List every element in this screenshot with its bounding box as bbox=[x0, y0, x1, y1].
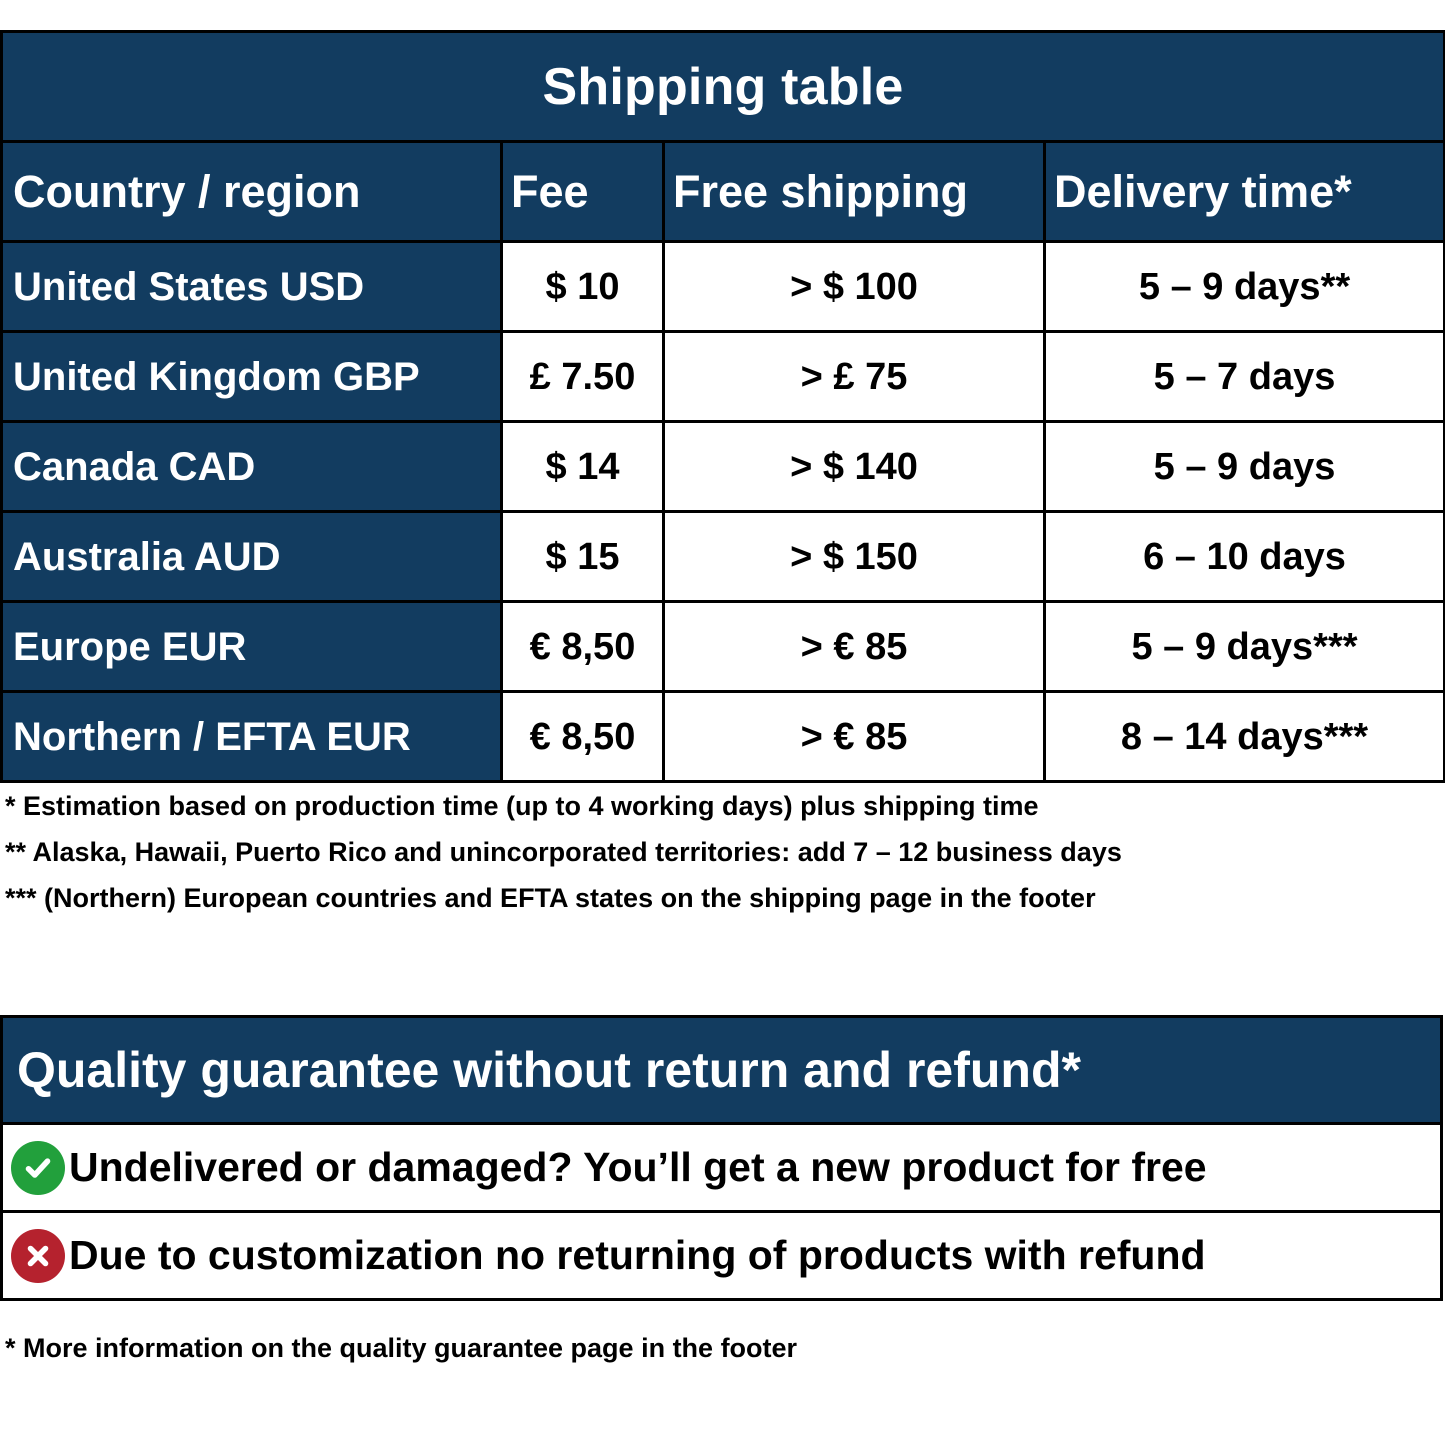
cell-country: Europe EUR bbox=[2, 602, 502, 692]
table-row: Australia AUD $ 15 > $ 150 6 – 10 days bbox=[2, 512, 1445, 602]
footnote-single-asterisk: * Estimation based on production time (u… bbox=[5, 793, 1440, 820]
footnote-double-asterisk: ** Alaska, Hawaii, Puerto Rico and uninc… bbox=[5, 839, 1440, 866]
cell-fee: $ 15 bbox=[502, 512, 664, 602]
table-row: Northern / EFTA EUR € 8,50 > € 85 8 – 14… bbox=[2, 692, 1445, 782]
shipping-table-header-row: Country / region Fee Free shipping Deliv… bbox=[2, 142, 1445, 242]
cell-delivery-time: 5 – 9 days bbox=[1045, 422, 1445, 512]
cell-delivery-time: 5 – 9 days*** bbox=[1045, 602, 1445, 692]
quality-guarantee-container: Quality guarantee without return and ref… bbox=[0, 1015, 1445, 1301]
cell-delivery-time: 8 – 14 days*** bbox=[1045, 692, 1445, 782]
cell-free-shipping: > $ 150 bbox=[664, 512, 1045, 602]
list-item: Due to customization no returning of pro… bbox=[2, 1212, 1442, 1300]
column-header-fee: Fee bbox=[502, 142, 664, 242]
cell-fee: $ 10 bbox=[502, 242, 664, 332]
shipping-table-title-row: Shipping table bbox=[2, 32, 1445, 142]
shipping-footnotes: * Estimation based on production time (u… bbox=[5, 793, 1440, 931]
table-row: Canada CAD $ 14 > $ 140 5 – 9 days bbox=[2, 422, 1445, 512]
cell-delivery-time: 6 – 10 days bbox=[1045, 512, 1445, 602]
quality-guarantee-positive-text: Undelivered or damaged? You’ll get a new… bbox=[69, 1147, 1207, 1188]
quality-guarantee-footnote: * More information on the quality guaran… bbox=[5, 1335, 797, 1362]
table-row: Europe EUR € 8,50 > € 85 5 – 9 days*** bbox=[2, 602, 1445, 692]
quality-guarantee-header-row: Quality guarantee without return and ref… bbox=[2, 1017, 1442, 1124]
cell-country: United Kingdom GBP bbox=[2, 332, 502, 422]
shipping-table-container: Shipping table Country / region Fee Free… bbox=[0, 30, 1445, 783]
shipping-info-page: Shipping table Country / region Fee Free… bbox=[0, 0, 1445, 1445]
cell-free-shipping: > $ 140 bbox=[664, 422, 1045, 512]
shipping-table-title-cell: Shipping table bbox=[2, 32, 1445, 142]
cell-free-shipping: > € 85 bbox=[664, 602, 1045, 692]
list-item: Undelivered or damaged? You’ll get a new… bbox=[2, 1124, 1442, 1212]
cell-fee: £ 7.50 bbox=[502, 332, 664, 422]
table-row: United States USD $ 10 > $ 100 5 – 9 day… bbox=[2, 242, 1445, 332]
quality-guarantee-positive-cell: Undelivered or damaged? You’ll get a new… bbox=[2, 1124, 1442, 1212]
column-header-country: Country / region bbox=[2, 142, 502, 242]
page-title: Shipping table bbox=[3, 61, 1443, 113]
quality-guarantee-title: Quality guarantee without return and ref… bbox=[3, 1045, 1440, 1095]
column-header-free-shipping: Free shipping bbox=[664, 142, 1045, 242]
cell-fee: $ 14 bbox=[502, 422, 664, 512]
cell-free-shipping: > £ 75 bbox=[664, 332, 1045, 422]
column-header-delivery-time: Delivery time* bbox=[1045, 142, 1445, 242]
check-circle-icon bbox=[11, 1141, 65, 1195]
quality-guarantee-negative-text: Due to customization no returning of pro… bbox=[69, 1235, 1206, 1276]
cross-circle-icon bbox=[11, 1229, 65, 1283]
footnote-triple-asterisk: *** (Northern) European countries and EF… bbox=[5, 885, 1440, 912]
cell-country: United States USD bbox=[2, 242, 502, 332]
cell-delivery-time: 5 – 9 days** bbox=[1045, 242, 1445, 332]
cell-fee: € 8,50 bbox=[502, 602, 664, 692]
cell-country: Northern / EFTA EUR bbox=[2, 692, 502, 782]
quality-guarantee-header-cell: Quality guarantee without return and ref… bbox=[2, 1017, 1442, 1124]
quality-guarantee-table: Quality guarantee without return and ref… bbox=[0, 1015, 1443, 1301]
cell-free-shipping: > € 85 bbox=[664, 692, 1045, 782]
cell-delivery-time: 5 – 7 days bbox=[1045, 332, 1445, 422]
table-row: United Kingdom GBP £ 7.50 > £ 75 5 – 7 d… bbox=[2, 332, 1445, 422]
shipping-table: Shipping table Country / region Fee Free… bbox=[0, 30, 1445, 783]
quality-guarantee-negative-cell: Due to customization no returning of pro… bbox=[2, 1212, 1442, 1300]
cell-free-shipping: > $ 100 bbox=[664, 242, 1045, 332]
cell-country: Canada CAD bbox=[2, 422, 502, 512]
cell-fee: € 8,50 bbox=[502, 692, 664, 782]
quality-guarantee-negative-line: Due to customization no returning of pro… bbox=[3, 1229, 1440, 1283]
cell-country: Australia AUD bbox=[2, 512, 502, 602]
quality-guarantee-positive-line: Undelivered or damaged? You’ll get a new… bbox=[3, 1141, 1440, 1195]
